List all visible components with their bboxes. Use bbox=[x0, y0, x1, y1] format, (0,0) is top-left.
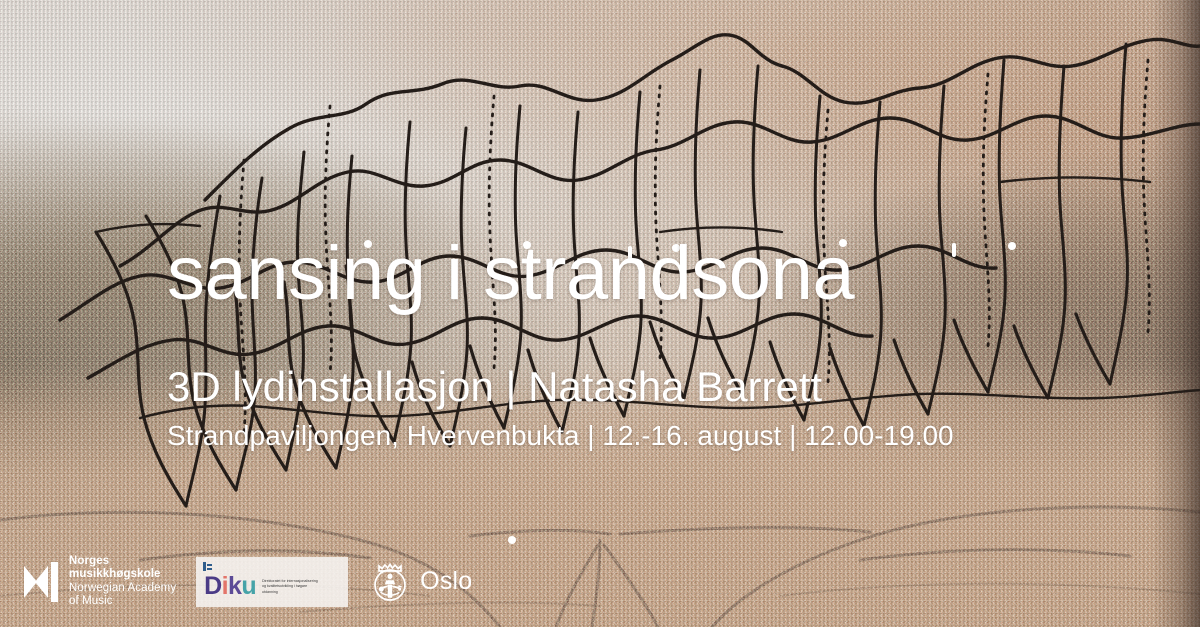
logo-strip: Norges musikkhøgskole Norwegian Academy … bbox=[24, 555, 472, 609]
oslo-coat-of-arms-icon bbox=[368, 560, 412, 604]
nmh-line-2: musikkhøgskole bbox=[69, 568, 176, 582]
poster: sansing i strandsona 3D lydinstallasjon … bbox=[0, 0, 1200, 627]
nmh-line-1: Norges bbox=[69, 555, 176, 569]
diku-tagline: Direktoratet for internasjonalisering og… bbox=[262, 579, 318, 595]
diku-wordmark: Diku bbox=[204, 574, 256, 599]
diku-corner-icon bbox=[203, 562, 212, 571]
nmh-mark-icon bbox=[24, 562, 58, 602]
diku-letter-u: u bbox=[241, 572, 256, 600]
diku-letter-d: D bbox=[204, 572, 221, 600]
logo-oslo-kommune: Oslo bbox=[368, 560, 472, 604]
copy-block: sansing i strandsona 3D lydinstallasjon … bbox=[167, 236, 1067, 450]
event-subtitle: 3D lydinstallasjon | Natasha Barrett bbox=[167, 366, 1067, 408]
nmh-line-3: Norwegian Academy bbox=[69, 582, 176, 596]
logo-norges-musikkhogskole: Norges musikkhøgskole Norwegian Academy … bbox=[24, 555, 176, 609]
page-title: sansing i strandsona bbox=[167, 236, 1067, 312]
diku-letter-k: k bbox=[228, 572, 241, 600]
event-details: Strandpaviljongen, Hvervenbukta | 12.-16… bbox=[167, 422, 1067, 450]
oslo-label: Oslo bbox=[420, 567, 472, 596]
logo-diku: Diku Direktoratet for internasjonaliseri… bbox=[196, 557, 348, 607]
nmh-wordmark: Norges musikkhøgskole Norwegian Academy … bbox=[69, 555, 176, 609]
nmh-line-4: of Music bbox=[69, 595, 176, 609]
